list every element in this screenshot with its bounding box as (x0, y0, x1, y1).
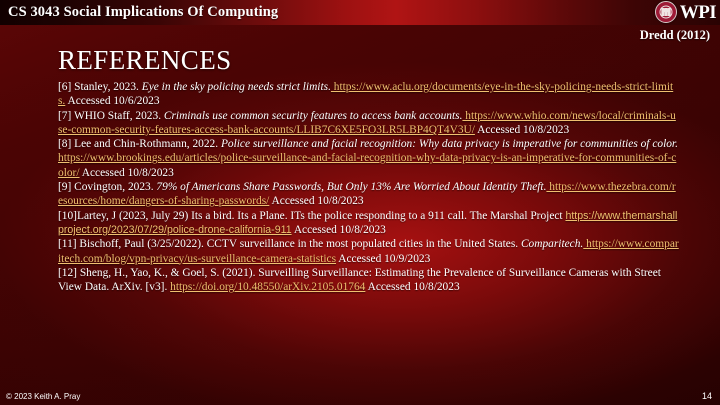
footer-page-number: 14 (702, 391, 712, 401)
reference-title: Comparitech. (521, 238, 583, 250)
slide: CS 3043 Social Implications Of Computing… (0, 0, 720, 405)
reference-title: 79% of Americans Share Passwords, But On… (156, 181, 546, 193)
reference-entry: [6] Stanley, 2023. Eye in the sky polici… (58, 80, 680, 109)
reference-accessed-date: Accessed 10/8/2023 (269, 195, 363, 207)
reference-number: [8] (58, 138, 71, 150)
reference-accessed-date: Accessed 10/8/2023 (475, 124, 569, 136)
reference-accessed-date: Accessed 10/6/2023 (65, 95, 159, 107)
slide-subtitle: Dredd (2012) (640, 28, 710, 43)
reference-accessed-date: Accessed 10/8/2023 (365, 281, 459, 293)
reference-author: Lartey, J (2023, July 29) Its a bird. It… (77, 210, 565, 222)
reference-link[interactable]: https://doi.org/10.48550/arXiv.2105.0176… (170, 281, 365, 293)
wpi-logo: WPI (655, 1, 716, 23)
reference-author: Bischoff, Paul (3/25/2022). CCTV surveil… (77, 238, 521, 250)
reference-number: [7] (58, 110, 71, 122)
wpi-seal-icon (655, 1, 677, 23)
reference-entry: [7] WHIO Staff, 2023. Criminals use comm… (58, 109, 680, 138)
reference-number: [6] (58, 81, 71, 93)
reference-accessed-date: Accessed 10/8/2023 (292, 224, 386, 236)
reference-number: [9] (58, 181, 71, 193)
reference-number: [12] (58, 267, 77, 279)
reference-title: Police surveillance and facial recogniti… (221, 138, 678, 150)
slide-header-banner: CS 3043 Social Implications Of Computing… (0, 0, 720, 25)
reference-entry: [10]Lartey, J (2023, July 29) Its a bird… (58, 209, 680, 238)
page-title: REFERENCES (58, 45, 232, 76)
footer-copyright: © 2023 Keith A. Pray (6, 392, 80, 401)
reference-author: Lee and Chin-Rothmann, 2022. (71, 138, 221, 150)
course-title: CS 3043 Social Implications Of Computing (8, 4, 278, 21)
reference-entry: [9] Covington, 2023. 79% of Americans Sh… (58, 180, 680, 209)
reference-author: Stanley, 2023. (71, 81, 141, 93)
reference-author: WHIO Staff, 2023. (71, 110, 164, 122)
reference-number: [11] (58, 238, 77, 250)
wpi-wordmark: WPI (680, 3, 716, 22)
reference-entry: [8] Lee and Chin-Rothmann, 2022. Police … (58, 137, 680, 180)
reference-author: Covington, 2023. (71, 181, 156, 193)
reference-entry: [12] Sheng, H., Yao, K., & Goel, S. (202… (58, 266, 680, 295)
reference-number: [10] (58, 210, 77, 222)
reference-accessed-date: Accessed 10/9/2023 (336, 253, 430, 265)
references-list: [6] Stanley, 2023. Eye in the sky polici… (58, 80, 680, 294)
reference-title: Criminals use common security features t… (164, 110, 463, 122)
reference-entry: [11] Bischoff, Paul (3/25/2022). CCTV su… (58, 237, 680, 266)
reference-accessed-date: Accessed 10/8/2023 (80, 167, 174, 179)
reference-title: Eye in the sky policing needs strict lim… (142, 81, 331, 93)
